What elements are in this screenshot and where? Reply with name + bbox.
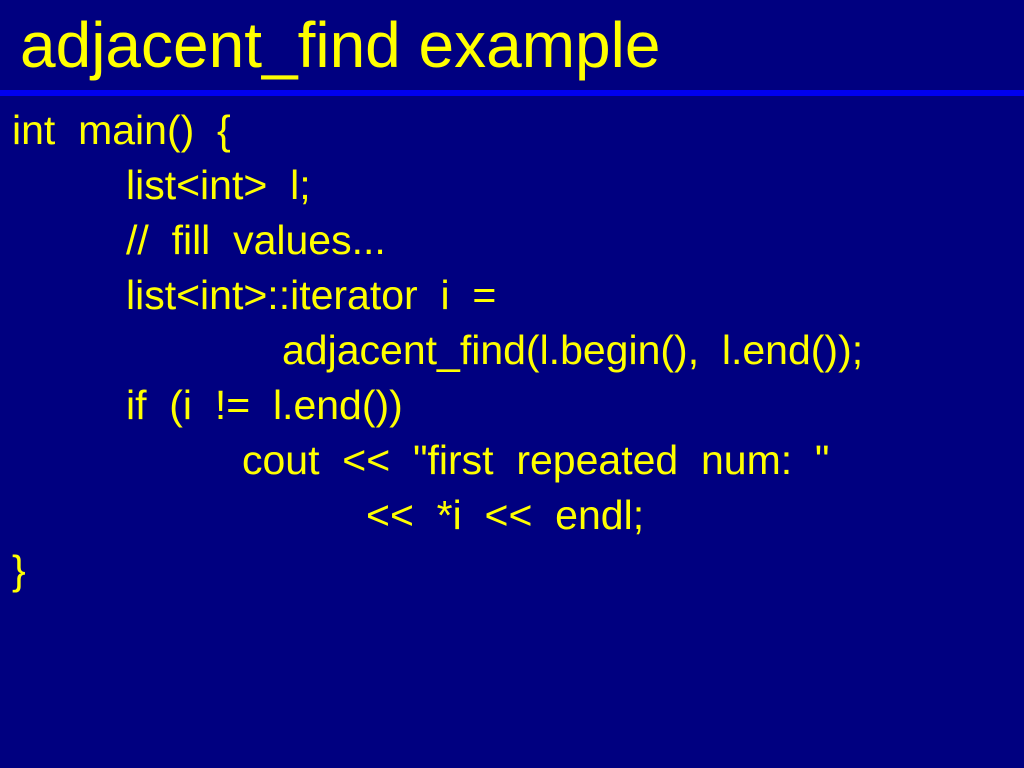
slide-canvas: adjacent_find example int main() { list<… — [0, 0, 1024, 768]
code-line: << *i << endl; — [0, 488, 1024, 543]
page-title: adjacent_find example — [20, 6, 660, 84]
code-block: int main() { list<int> l; // fill values… — [0, 103, 1024, 598]
code-line: if (i != l.end()) — [0, 378, 1024, 433]
code-line: // fill values... — [0, 213, 1024, 268]
code-line: } — [0, 543, 1024, 598]
title-divider-rule — [0, 90, 1024, 96]
code-line: list<int>::iterator i = — [0, 268, 1024, 323]
code-line: adjacent_find(l.begin(), l.end()); — [0, 323, 1024, 378]
code-line: cout << "first repeated num: " — [0, 433, 1024, 488]
code-line: int main() { — [0, 103, 1024, 158]
code-line: list<int> l; — [0, 158, 1024, 213]
